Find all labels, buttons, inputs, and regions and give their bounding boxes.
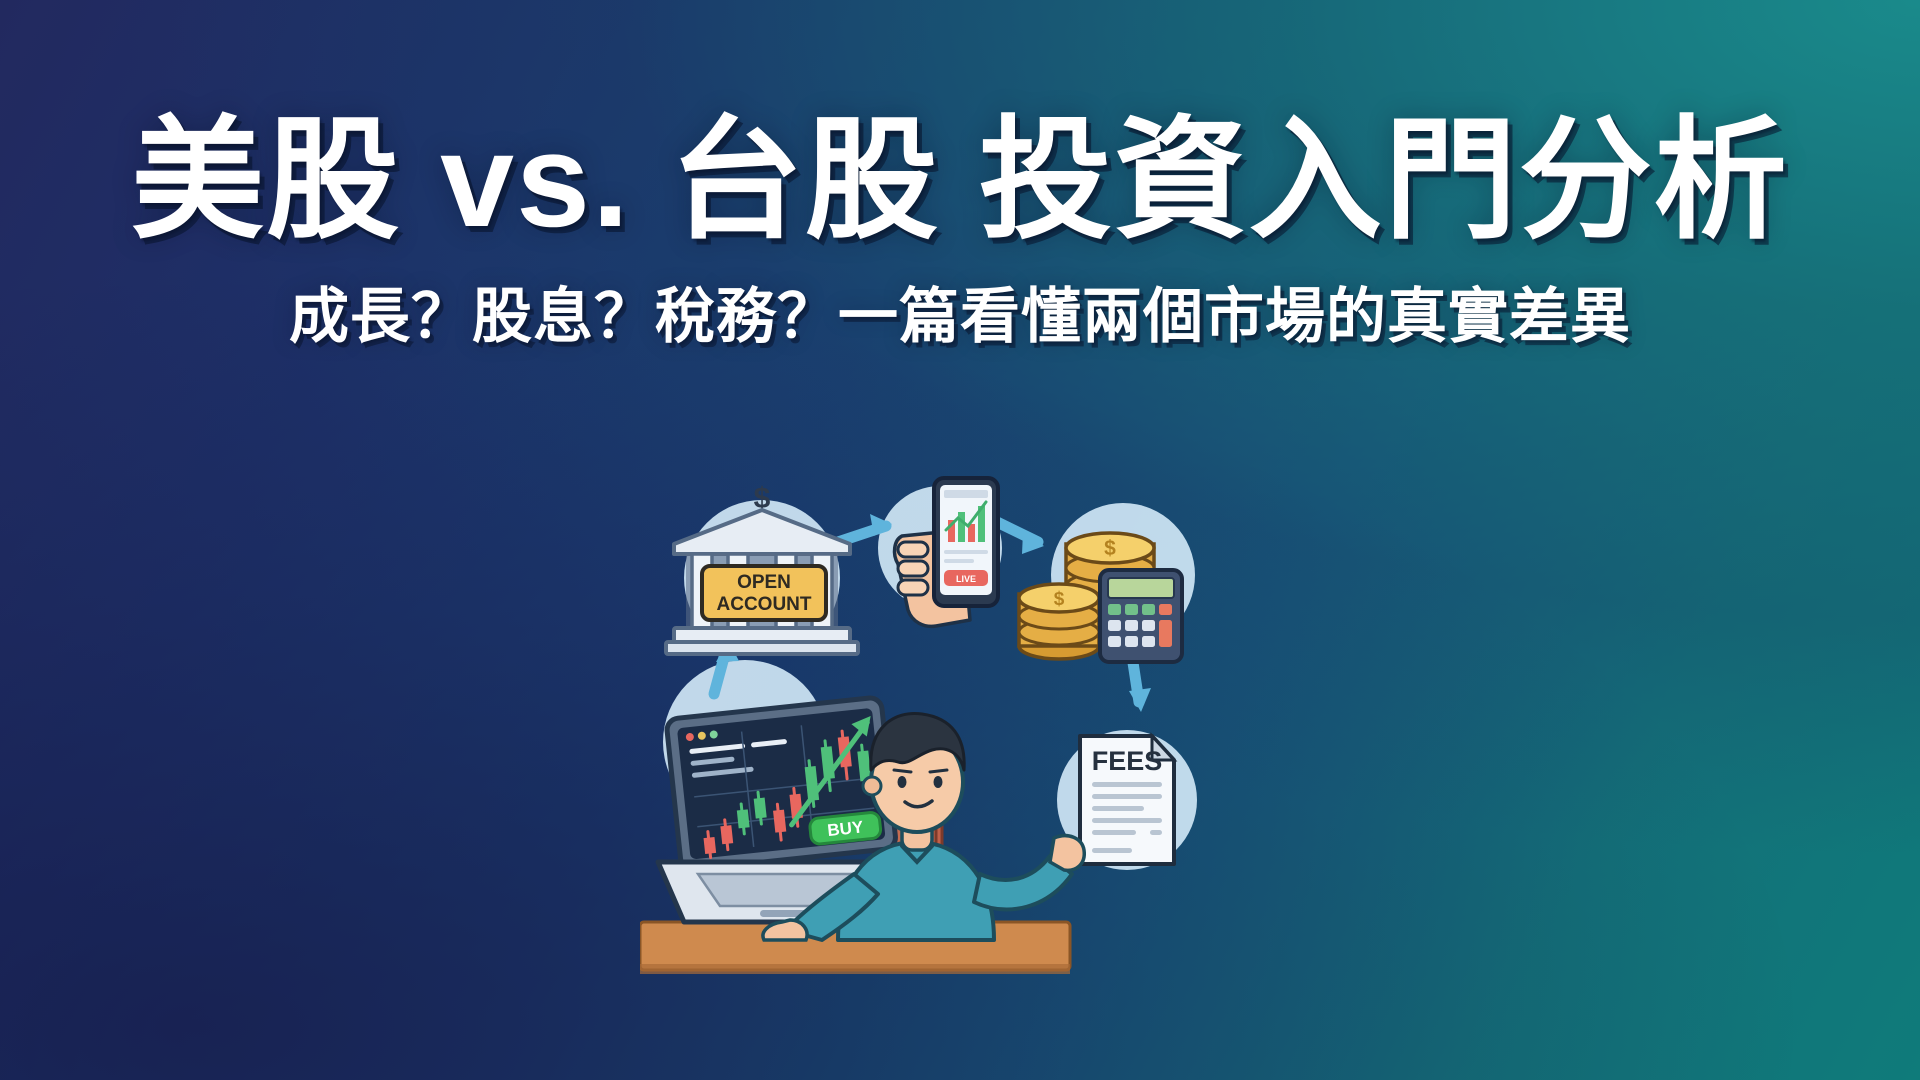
fees-document-title: FEES xyxy=(1092,746,1163,776)
coin-dollar-symbol: $ xyxy=(1104,537,1116,560)
headline-block: 美股 vs. 台股 投資入門分析 成長？股息？稅務？一篇看懂兩個市場的真實差異 xyxy=(0,112,1920,355)
arrow-phone-to-coins-icon xyxy=(997,522,1044,554)
page-subtitle: 成長？股息？稅務？一篇看懂兩個市場的真實差異 xyxy=(0,268,1920,355)
arrow-coins-to-fees-icon xyxy=(1129,656,1151,712)
page-title: 美股 vs. 台股 投資入門分析 xyxy=(0,112,1920,250)
phone-live-badge-label: LIVE xyxy=(956,574,976,584)
open-account-sign-line1: OPEN xyxy=(737,572,791,593)
open-account-sign-line2: ACCOUNT xyxy=(717,594,812,615)
laptop-buy-button-label: BUY xyxy=(826,817,864,840)
bank-building-icon: $ OPEN ACCOUNT xyxy=(666,482,858,654)
illustration-graphic: $ OPEN ACCOUNT xyxy=(640,470,1340,1030)
desk-shadow xyxy=(640,964,1070,974)
fees-document-icon: FEES xyxy=(1080,736,1174,864)
svg-text:$: $ xyxy=(1054,589,1065,610)
banner-root: 美股 vs. 台股 投資入門分析 成長？股息？稅務？一篇看懂兩個市場的真實差異 xyxy=(0,0,1920,1080)
